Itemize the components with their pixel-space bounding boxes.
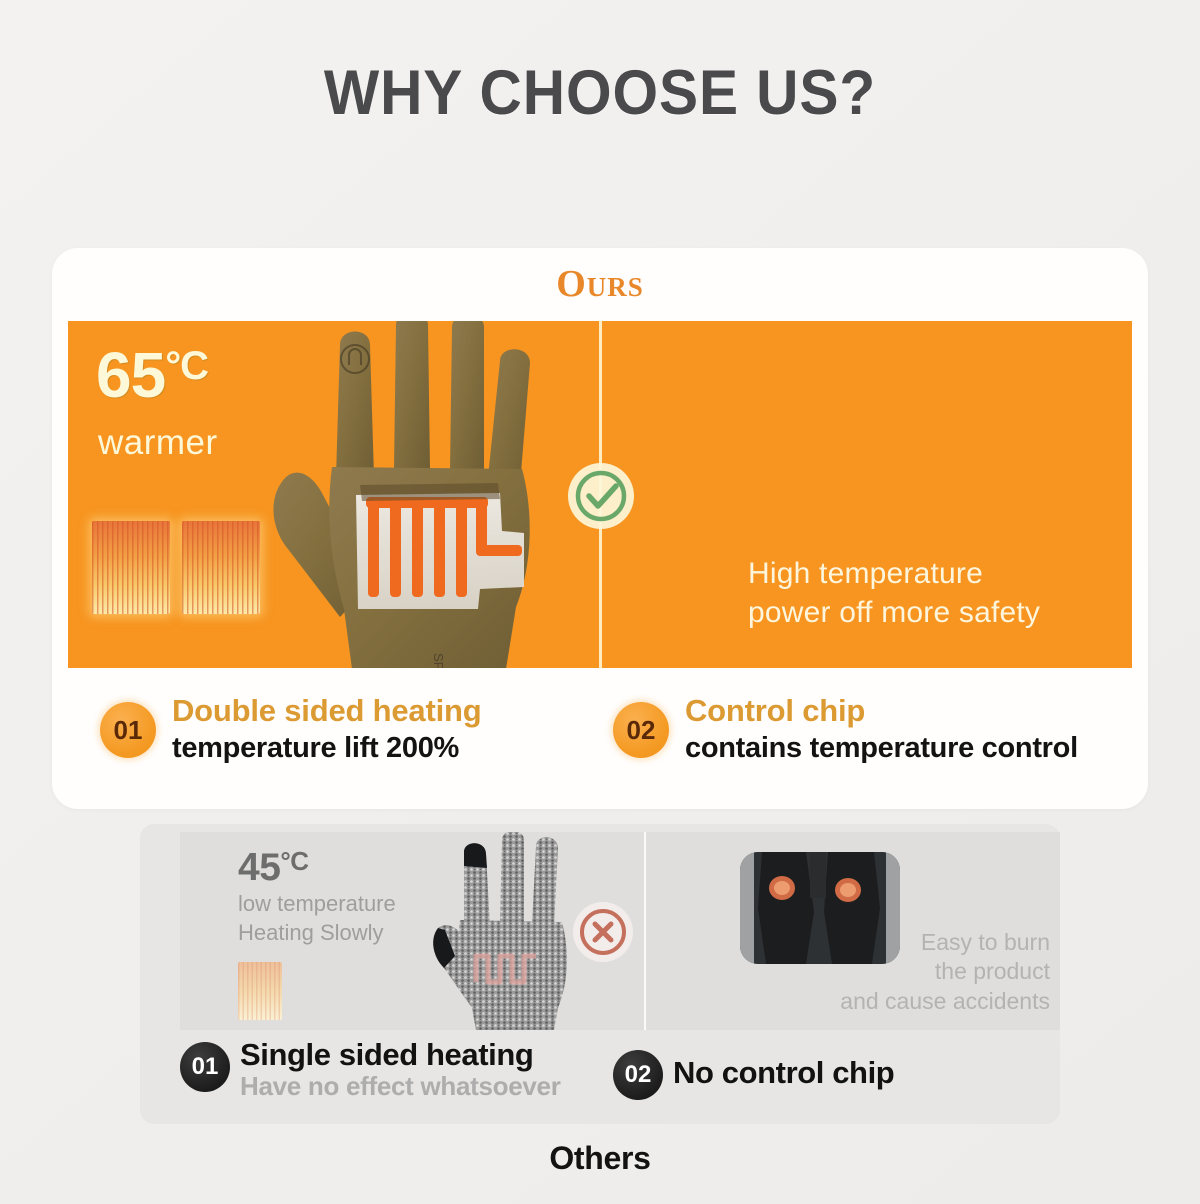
others-warning-line2: the product <box>800 957 1050 986</box>
others-warning-line3: and cause accidents <box>800 987 1050 1016</box>
others-label: Others <box>0 1140 1200 1177</box>
ours-label: Ours <box>52 262 1148 306</box>
knit-glove-finger <box>532 837 558 926</box>
others-feature-02-badge: 02 <box>613 1050 663 1100</box>
others-caption-line2: Heating Slowly <box>238 919 396 948</box>
others-temperature-caption: low temperature Heating Slowly <box>238 890 396 947</box>
others-feature-01: 01 Single sided heating Have no effect w… <box>180 1038 561 1102</box>
ours-feature-02-sub: contains temperature control <box>685 731 1078 765</box>
infographic-page: WHY CHOOSE US? Ours 65°C warmer <box>0 0 1200 1204</box>
others-feature-02: 02 No control chip <box>613 1046 894 1100</box>
ours-feature-02: 02 Control chip contains temperature con… <box>613 694 1078 765</box>
heated-glove-illustration: SPORT <box>248 321 578 668</box>
others-heating-pad <box>238 962 282 1020</box>
ours-temperature-value: 65 <box>96 339 165 411</box>
ours-feature-02-texts: Control chip contains temperature contro… <box>685 694 1078 765</box>
others-temperature-value: 45 <box>238 846 280 889</box>
ours-feature-02-heading: Control chip <box>685 694 1078 729</box>
ours-feature-01-badge: 01 <box>100 702 156 758</box>
glove-cuff-text: SPORT <box>431 653 446 668</box>
ours-benefit-text: High temperature power off more safety <box>748 554 1040 632</box>
heating-pad <box>92 521 170 614</box>
ours-temperature-unit: °C <box>165 344 208 388</box>
ours-temperature-caption: warmer <box>98 423 218 463</box>
heating-pad-group <box>92 521 260 614</box>
x-circle-icon <box>572 901 634 963</box>
glove-finger <box>488 349 530 485</box>
knit-glove-finger <box>500 832 524 922</box>
others-temperature-unit: °C <box>280 846 308 876</box>
others-feature-01-badge: 01 <box>180 1042 230 1092</box>
others-feature-02-heading: No control chip <box>673 1056 894 1090</box>
ours-feature-01-texts: Double sided heating temperature lift 20… <box>172 694 481 765</box>
others-feature-02-texts: No control chip <box>673 1056 894 1090</box>
ours-feature-01-heading: Double sided heating <box>172 694 481 729</box>
glove-finger <box>450 321 484 471</box>
ours-feature-01-sub: temperature lift 200% <box>172 731 481 765</box>
ours-temperature: 65°C <box>96 343 208 407</box>
others-temperature: 45°C <box>238 848 309 887</box>
glove-finger <box>394 321 430 469</box>
page-title: WHY CHOOSE US? <box>42 62 1158 125</box>
ours-feature-01: 01 Double sided heating temperature lift… <box>100 694 481 765</box>
touchscreen-fingertip <box>464 843 487 868</box>
check-circle-icon <box>566 461 636 531</box>
others-warning-text: Easy to burn the product and cause accid… <box>800 928 1050 1016</box>
others-panel-divider <box>644 832 646 1030</box>
others-feature-01-sub: Have no effect whatsoever <box>240 1072 561 1102</box>
others-feature-01-texts: Single sided heating Have no effect what… <box>240 1038 561 1102</box>
others-card: 45°C low temperature Heating Slowly <box>140 824 1060 1124</box>
others-warning-line1: Easy to burn <box>800 928 1050 957</box>
glove-shadow <box>360 483 500 501</box>
ours-benefit-line1: High temperature <box>748 554 1040 593</box>
ours-benefit-line2: power off more safety <box>748 593 1040 632</box>
others-feature-01-heading: Single sided heating <box>240 1038 561 1072</box>
others-caption-line1: low temperature <box>238 890 396 919</box>
ours-feature-02-badge: 02 <box>613 702 669 758</box>
